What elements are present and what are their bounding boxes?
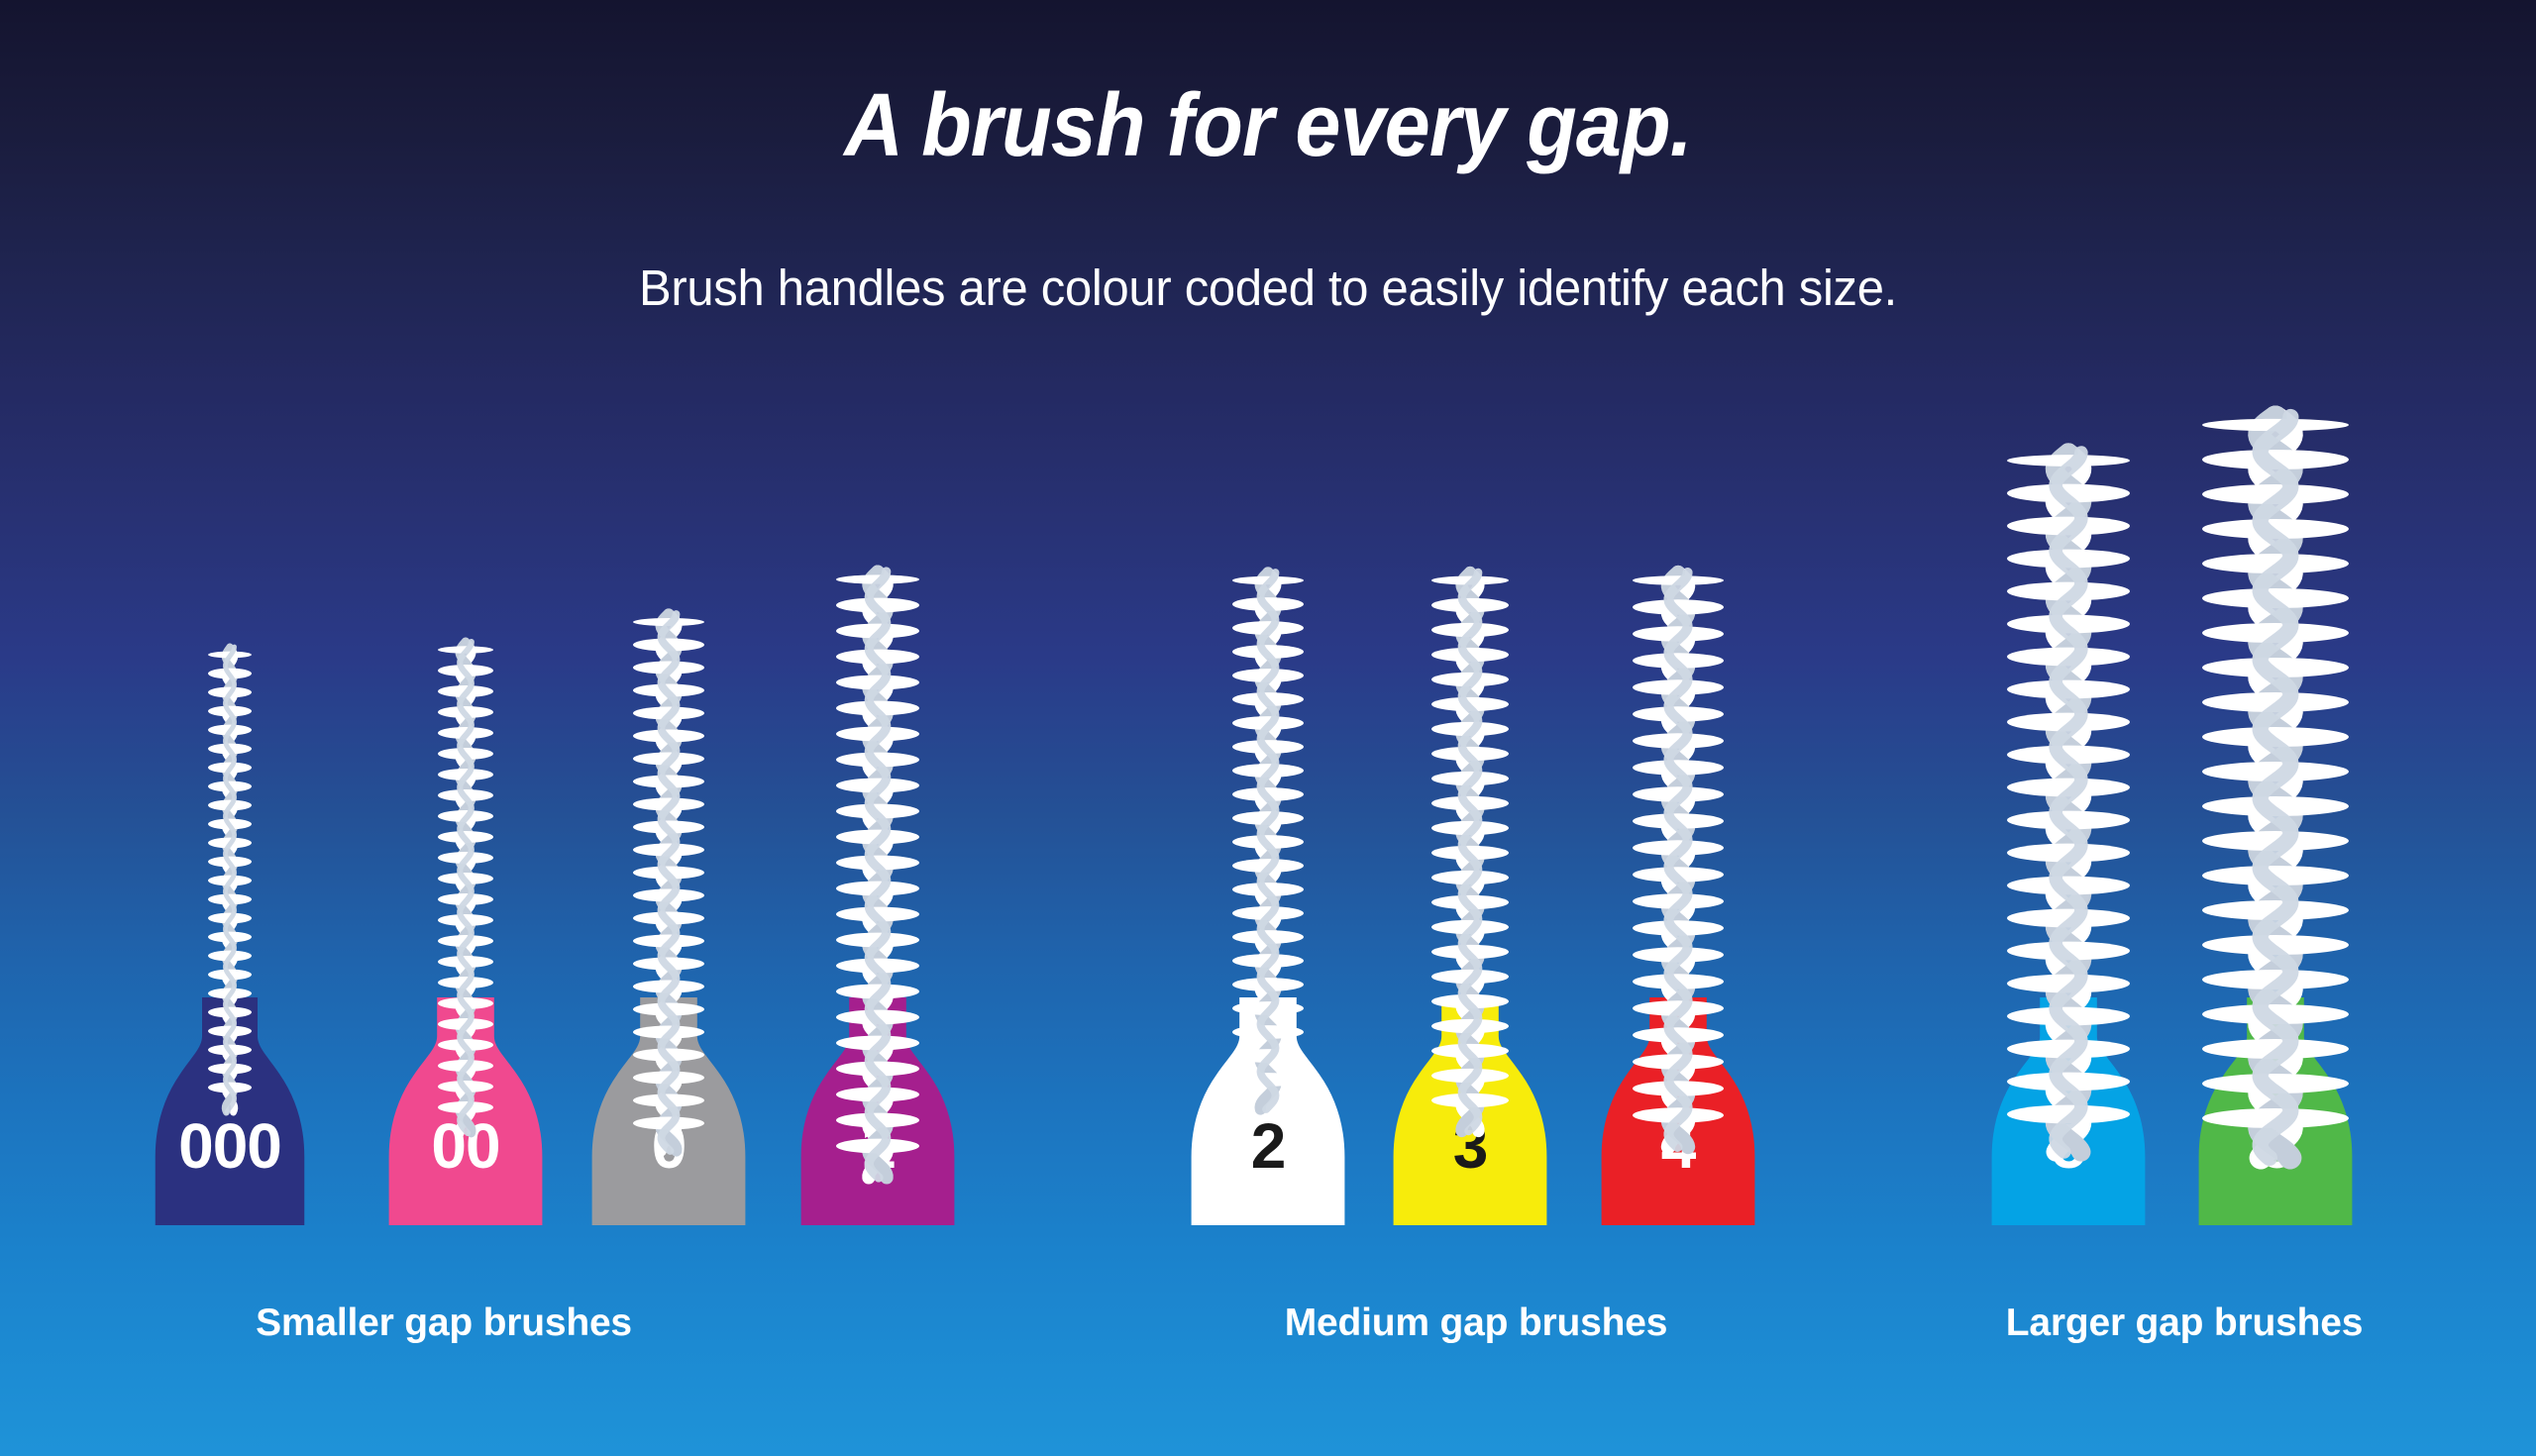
group-label-medium: Medium gap brushes [1285, 1303, 1667, 1342]
infographic-canvas: A brush for every gap. Brush handles are… [0, 0, 2536, 1456]
brush-bristles-3 [1426, 572, 1515, 1131]
group-label-larger: Larger gap brushes [2006, 1303, 2364, 1342]
brush-bristles-5 [2001, 453, 2136, 1153]
brush-size-label-000: 000 [178, 1114, 281, 1178]
group-label-smaller: Smaller gap brushes [256, 1303, 632, 1342]
brush-bristles-0 [627, 614, 710, 1152]
brush-bristles-6 [2196, 417, 2355, 1159]
brush-bristles-1 [830, 572, 925, 1178]
brush-bristles-4 [1627, 572, 1730, 1148]
brush-bristles-2 [1226, 572, 1310, 1109]
brush-row: 000000123456 [0, 0, 2536, 1456]
brush-size-label-2: 2 [1251, 1114, 1286, 1178]
brush-bristles-00 [432, 642, 499, 1134]
brush-bristles-000 [202, 647, 258, 1112]
